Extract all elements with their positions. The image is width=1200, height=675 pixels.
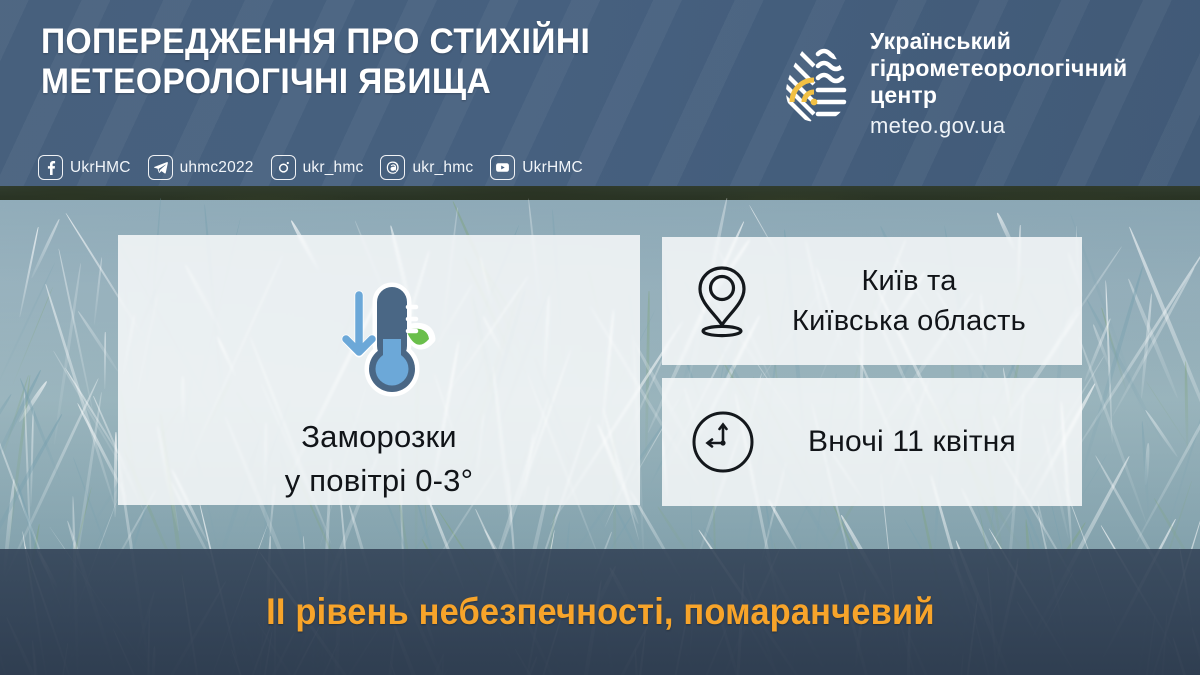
location-text-line1: Київ та	[750, 261, 1068, 301]
social-handle-threads: ukr_hmc	[412, 159, 473, 177]
time-text-line1: Вночі 11 квітня	[756, 422, 1068, 462]
social-links-row: UkrHMC uhmc2022 ukr_hmc	[38, 155, 591, 180]
social-link-facebook[interactable]: UkrHMC	[38, 155, 131, 180]
social-handle-facebook: UkrHMC	[70, 159, 131, 177]
social-handle-telegram: uhmc2022	[180, 159, 254, 177]
telegram-icon	[148, 155, 173, 180]
youtube-icon	[490, 155, 515, 180]
page-title-line2: МЕТЕОРОЛОГІЧНІ ЯВИЩА	[41, 62, 713, 102]
social-link-youtube[interactable]: UkrHMC	[490, 155, 583, 180]
logo-line1: Український	[870, 28, 1127, 55]
thermometer-down-arrow-leaf-icon	[319, 277, 439, 407]
social-link-instagram[interactable]: ukr_hmc	[271, 155, 364, 180]
threads-icon	[380, 155, 405, 180]
social-link-telegram[interactable]: uhmc2022	[148, 155, 254, 180]
social-handle-instagram: ukr_hmc	[303, 159, 364, 177]
danger-level-text: II рівень небезпечності, помаранчевий	[266, 591, 935, 633]
hazard-text: Заморозки у повітрі 0-3°	[285, 415, 473, 503]
location-text-line2: Київська область	[750, 301, 1068, 341]
header-band: ПОПЕРЕДЖЕННЯ ПРО СТИХІЙНІ МЕТЕОРОЛОГІЧНІ…	[0, 0, 1200, 186]
logo-website-url[interactable]: meteo.gov.ua	[870, 112, 1127, 140]
logo-line2: гідрометеорологічний	[870, 55, 1127, 82]
page-title: ПОПЕРЕДЖЕННЯ ПРО СТИХІЙНІ МЕТЕОРОЛОГІЧНІ…	[41, 22, 713, 102]
instagram-icon	[271, 155, 296, 180]
organization-logo: Український гідрометеорологічний центр m…	[780, 28, 1127, 140]
infographic-poster: ПОПЕРЕДЖЕННЯ ПРО СТИХІЙНІ МЕТЕОРОЛОГІЧНІ…	[0, 0, 1200, 675]
map-pin-icon	[694, 264, 750, 338]
location-card: Київ та Київська область	[662, 237, 1082, 365]
water-drop-leaf-logo-icon	[780, 28, 854, 124]
hazard-card: Заморозки у повітрі 0-3°	[118, 235, 640, 505]
social-link-threads[interactable]: ukr_hmc	[380, 155, 473, 180]
location-text: Київ та Київська область	[750, 261, 1082, 341]
time-text: Вночі 11 квітня	[756, 422, 1082, 462]
logo-line3: центр	[870, 82, 1127, 109]
social-handle-youtube: UkrHMC	[522, 159, 583, 177]
time-card: Вночі 11 квітня	[662, 378, 1082, 506]
logo-text: Український гідрометеорологічний центр	[870, 28, 1127, 109]
clock-icon	[690, 409, 756, 475]
hazard-text-line1: Заморозки	[285, 415, 473, 459]
danger-level-banner: II рівень небезпечності, помаранчевий	[0, 549, 1200, 675]
hazard-text-line2: у повітрі 0-3°	[285, 459, 473, 503]
facebook-icon	[38, 155, 63, 180]
page-title-line1: ПОПЕРЕДЖЕННЯ ПРО СТИХІЙНІ	[41, 22, 590, 61]
